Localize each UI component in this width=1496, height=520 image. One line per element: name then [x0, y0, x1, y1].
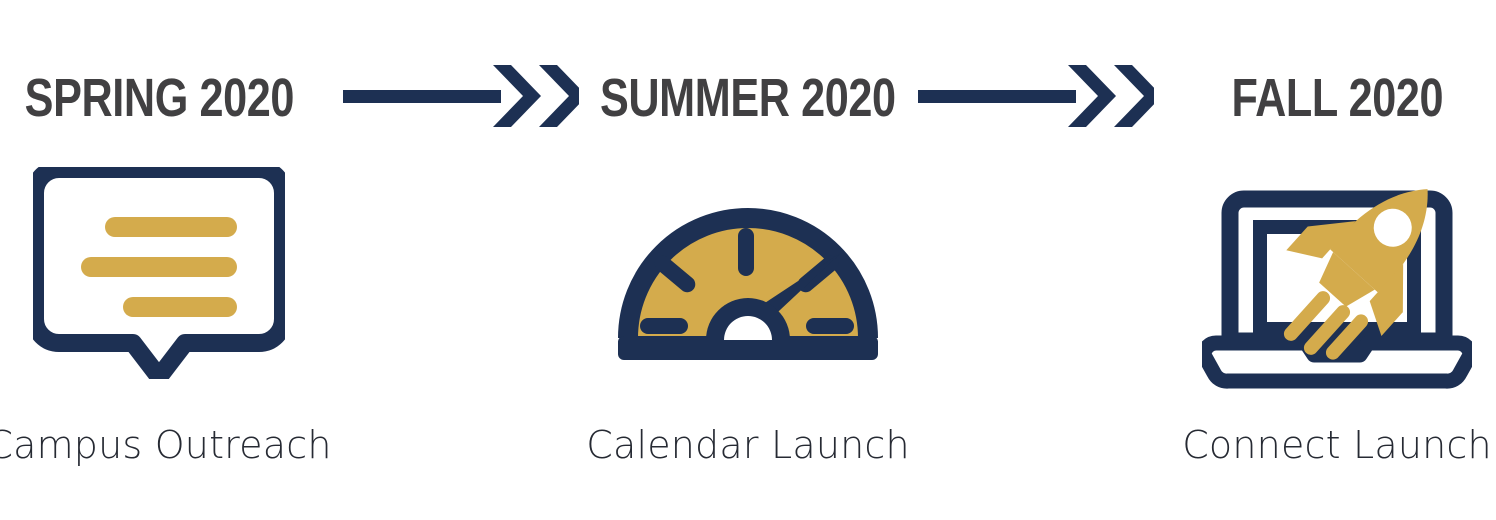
double-chevron-arrow-right-icon — [343, 65, 579, 132]
caption-slot-1: Campus Outreach — [0, 426, 319, 464]
double-chevron-arrow-right-icon — [918, 65, 1154, 132]
stage-heading-summer: SUMMER 2020 — [600, 71, 896, 125]
caption-slot-3: Connect Launch — [1177, 426, 1496, 464]
caption-slot-2: Calendar Launch — [588, 426, 908, 464]
icon-slot-3 — [1177, 157, 1496, 394]
connector-slot-1 — [333, 65, 588, 132]
stage-heading-fall: FALL 2020 — [1231, 71, 1443, 125]
gauge-speedometer-icon — [610, 178, 886, 373]
timeline-header-row: SPRING 2020 SUMMER 2020 — [0, 58, 1496, 138]
timeline-infographic: SPRING 2020 SUMMER 2020 — [0, 0, 1496, 520]
stage-caption-calendar-launch: Calendar Launch — [586, 426, 910, 464]
timeline-caption-row: Campus Outreach Calendar Launch Connect … — [0, 415, 1496, 475]
stage-caption-connect-launch: Connect Launch — [1182, 426, 1492, 464]
laptop-rocket-launch-icon — [1202, 157, 1472, 394]
speech-bubble-icon — [33, 167, 285, 384]
stage-caption-campus-outreach: Campus Outreach — [0, 426, 332, 464]
heading-slot-2: SUMMER 2020 — [588, 71, 908, 125]
connector-slot-2 — [908, 65, 1163, 132]
heading-slot-1: SPRING 2020 — [0, 71, 319, 125]
icon-slot-2 — [588, 178, 908, 373]
heading-slot-3: FALL 2020 — [1177, 71, 1496, 125]
timeline-icon-row — [0, 150, 1496, 400]
icon-slot-1 — [0, 167, 319, 384]
stage-heading-spring: SPRING 2020 — [24, 71, 293, 125]
